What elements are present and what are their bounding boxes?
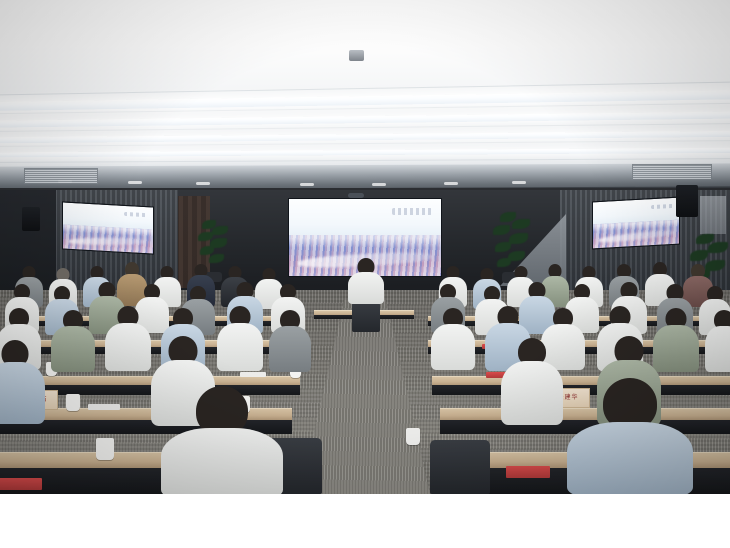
attendee	[500, 338, 564, 434]
person-torso	[567, 422, 693, 494]
foreground-attendee-left	[160, 386, 284, 494]
air-vent-grille	[632, 164, 712, 180]
downlight-icon	[128, 181, 142, 184]
person-torso	[431, 324, 475, 370]
downlight-icon	[444, 182, 458, 185]
left-led-panel[interactable]	[62, 201, 154, 254]
air-vent-grille	[24, 168, 98, 184]
bottom-white-margin	[0, 494, 730, 548]
white-tea-cup	[406, 428, 420, 445]
projector-mount-icon	[349, 50, 364, 61]
attendee	[104, 306, 152, 378]
wall-speaker-right-icon	[676, 185, 698, 217]
person-torso	[269, 326, 311, 372]
person-torso	[0, 362, 45, 424]
attendee	[50, 310, 96, 378]
ceiling-light-strip	[0, 148, 730, 158]
foreground-attendee-right	[566, 378, 694, 494]
downlight-icon	[196, 182, 210, 185]
attendee	[268, 310, 312, 378]
white-tea-cup	[66, 394, 80, 411]
paper-handout	[88, 404, 120, 410]
front-row-attendee	[346, 258, 386, 310]
person-torso	[348, 272, 384, 304]
attendee	[704, 310, 730, 378]
downlight-icon	[512, 181, 526, 184]
attendee	[0, 340, 46, 434]
screen-watermark-icon	[392, 208, 432, 215]
office-chair[interactable]	[430, 440, 490, 494]
person-torso	[161, 428, 283, 494]
conference-room-photograph: 于子石 张建华	[0, 0, 730, 494]
wall-speaker-left-icon	[22, 207, 40, 231]
attendee	[430, 308, 476, 378]
wall-sign	[700, 196, 726, 234]
red-document-folder	[0, 478, 42, 490]
person-torso	[105, 323, 151, 371]
red-document-folder	[506, 466, 550, 478]
photo-canvas: 于子石 张建华	[0, 0, 730, 548]
conference-camera-icon	[348, 193, 364, 198]
person-torso	[705, 326, 730, 372]
attendee	[216, 306, 264, 378]
person-torso	[501, 361, 563, 425]
ceiling-seam	[0, 158, 730, 163]
person-torso	[217, 323, 263, 371]
white-tea-cup	[96, 438, 114, 460]
downlight-icon	[372, 183, 386, 186]
person-torso	[51, 326, 95, 372]
potted-plant-right	[492, 212, 532, 274]
right-led-panel[interactable]	[592, 197, 680, 250]
downlight-icon	[300, 183, 314, 186]
